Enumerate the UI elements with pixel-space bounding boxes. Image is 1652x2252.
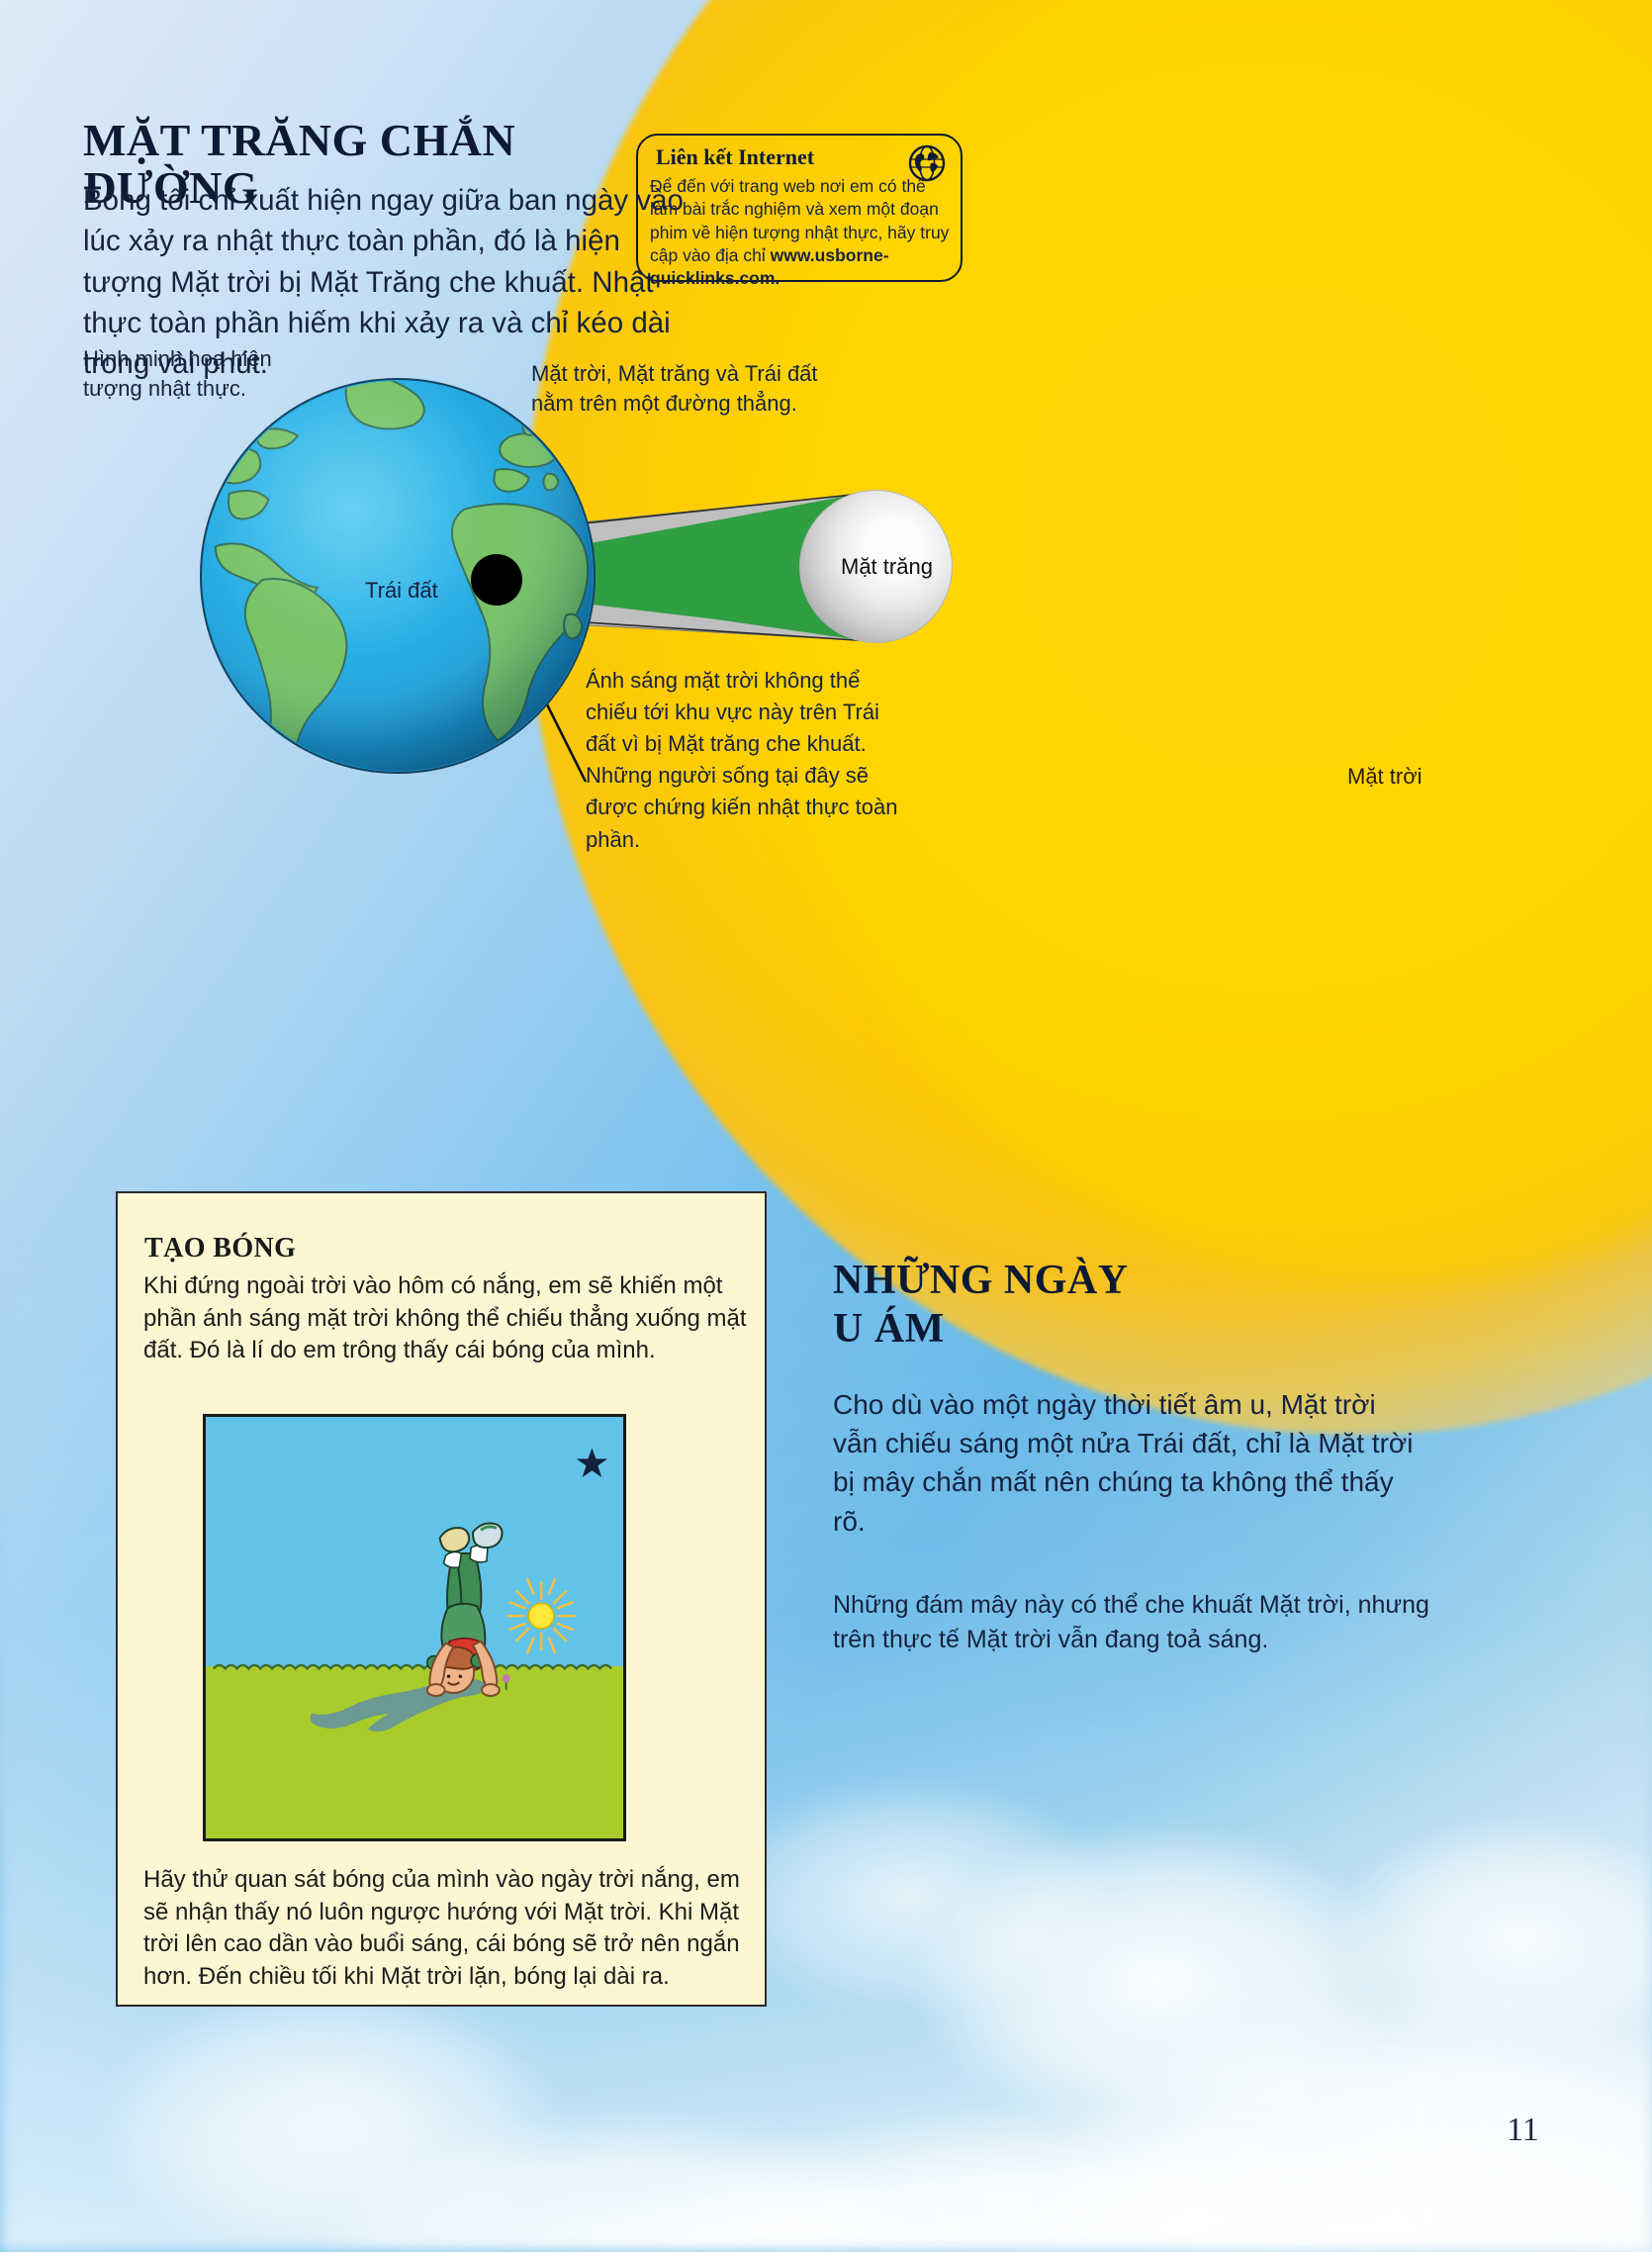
cloudy-paragraph-1: Cho dù vào một ngày thời tiết âm u, Mặt … [833,1385,1426,1541]
internet-link-body: Để đến với trang web nơi em có thể làm b… [650,175,955,290]
girl-figure [427,1523,503,1696]
making-shadows-body: Khi đứng ngoài trời vào hôm có nắng, em … [143,1270,747,1367]
cartoon-sun-icon [508,1579,575,1653]
cloudy-days-heading: NHỮNG NGÀY U ÁM [833,1257,1288,1354]
label-sun: Mặt trời [1347,764,1423,790]
earth-globe: Trái đất [200,378,596,774]
making-shadows-title: TẠO BÓNG [144,1233,296,1265]
label-moon: Mặt trăng [841,554,933,580]
label-earth: Trái đất [365,578,438,604]
eclipse-diagram: Trái đất Mặt trăng [188,366,1187,841]
cloudy-heading-line2: U ÁM [833,1306,945,1352]
handstand-photo [203,1414,626,1841]
cloudy-heading-line1: NHỮNG NGÀY [833,1258,1129,1303]
page-number: 11 [1507,2111,1539,2149]
internet-link-box: Liên kết Internet Để đến với trang web n… [636,134,963,282]
making-shadows-footer: Hãy thử quan sát bóng của mình vào ngày … [143,1864,753,1994]
cloudy-paragraph-2: Những đám mây này có thể che khuất Mặt t… [833,1588,1446,1657]
flower-icon [503,1674,510,1690]
internet-link-title: Liên kết Internet [656,144,814,170]
page-canvas: MẶT TRĂNG CHẮN ĐƯỜNG Bóng tối chỉ xuất h… [0,0,1652,2252]
making-shadows-box: TẠO BÓNG Khi đứng ngoài trời vào hôm có … [116,1191,767,2007]
star-icon [577,1449,608,1478]
umbra-spot [471,554,522,606]
